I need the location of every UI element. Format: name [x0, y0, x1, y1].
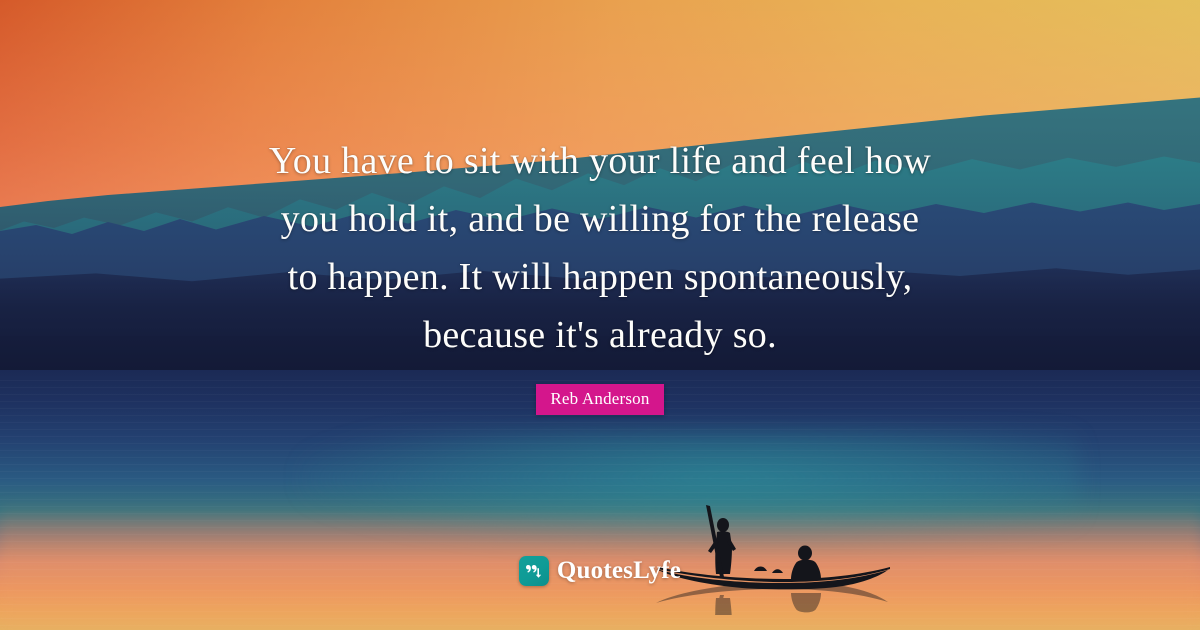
canoe-silhouette — [650, 495, 910, 615]
quote-card: You have to sit with your life and feel … — [0, 0, 1200, 630]
quote-text: You have to sit with your life and feel … — [0, 132, 1200, 364]
quote-line-1: You have to sit with your life and feel … — [120, 132, 1080, 190]
quote-line-2: you hold it, and be willing for the rele… — [120, 190, 1080, 248]
water-ripple-streaks — [0, 380, 1200, 630]
brand-name: QuotesLyfe — [557, 557, 681, 585]
brand-logo[interactable]: QuotesLyfe — [0, 556, 1200, 586]
author-badge[interactable]: Reb Anderson — [536, 384, 663, 415]
quote-line-4: because it's already so. — [120, 306, 1080, 364]
author-row: Reb Anderson — [0, 384, 1200, 415]
quote-line-3: to happen. It will happen spontaneously, — [120, 248, 1080, 306]
quote-mark-icon — [519, 556, 549, 586]
